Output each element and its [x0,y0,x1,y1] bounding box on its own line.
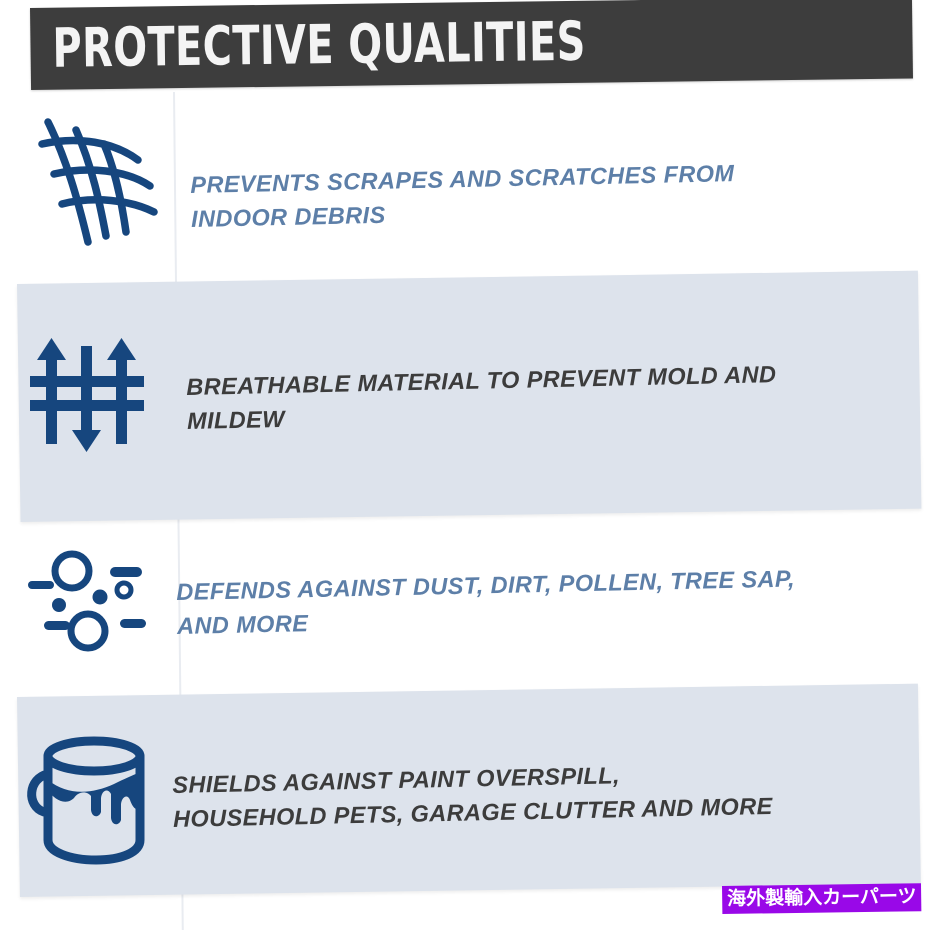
mesh-scratch-icon [26,108,166,248]
watermark-badge: 海外製輸入カーパーツ [722,883,922,914]
protective-qualities-infographic: PROTECTIVE QUALITIES PREVENTS SCRAPES AN… [0,0,930,930]
row-label-defends-dust: DEFENDS AGAINST DUST, DIRT, POLLEN, TREE… [176,562,796,643]
page-title: PROTECTIVE QUALITIES [52,5,586,86]
row-label-shields-paint: SHIELDS AGAINST PAINT OVERSPILL, HOUSEHO… [172,755,773,836]
header-bar: PROTECTIVE QUALITIES [30,0,913,90]
dust-particles-icon [20,545,152,655]
row-label-breathable-material: BREATHABLE MATERIAL TO PREVENT MOLD AND … [186,357,777,438]
paint-can-icon [22,728,154,870]
breathable-airflow-arrows-icon [22,330,152,460]
row-label-prevents-scrapes: PREVENTS SCRAPES AND SCRATCHES FROM INDO… [190,156,735,236]
